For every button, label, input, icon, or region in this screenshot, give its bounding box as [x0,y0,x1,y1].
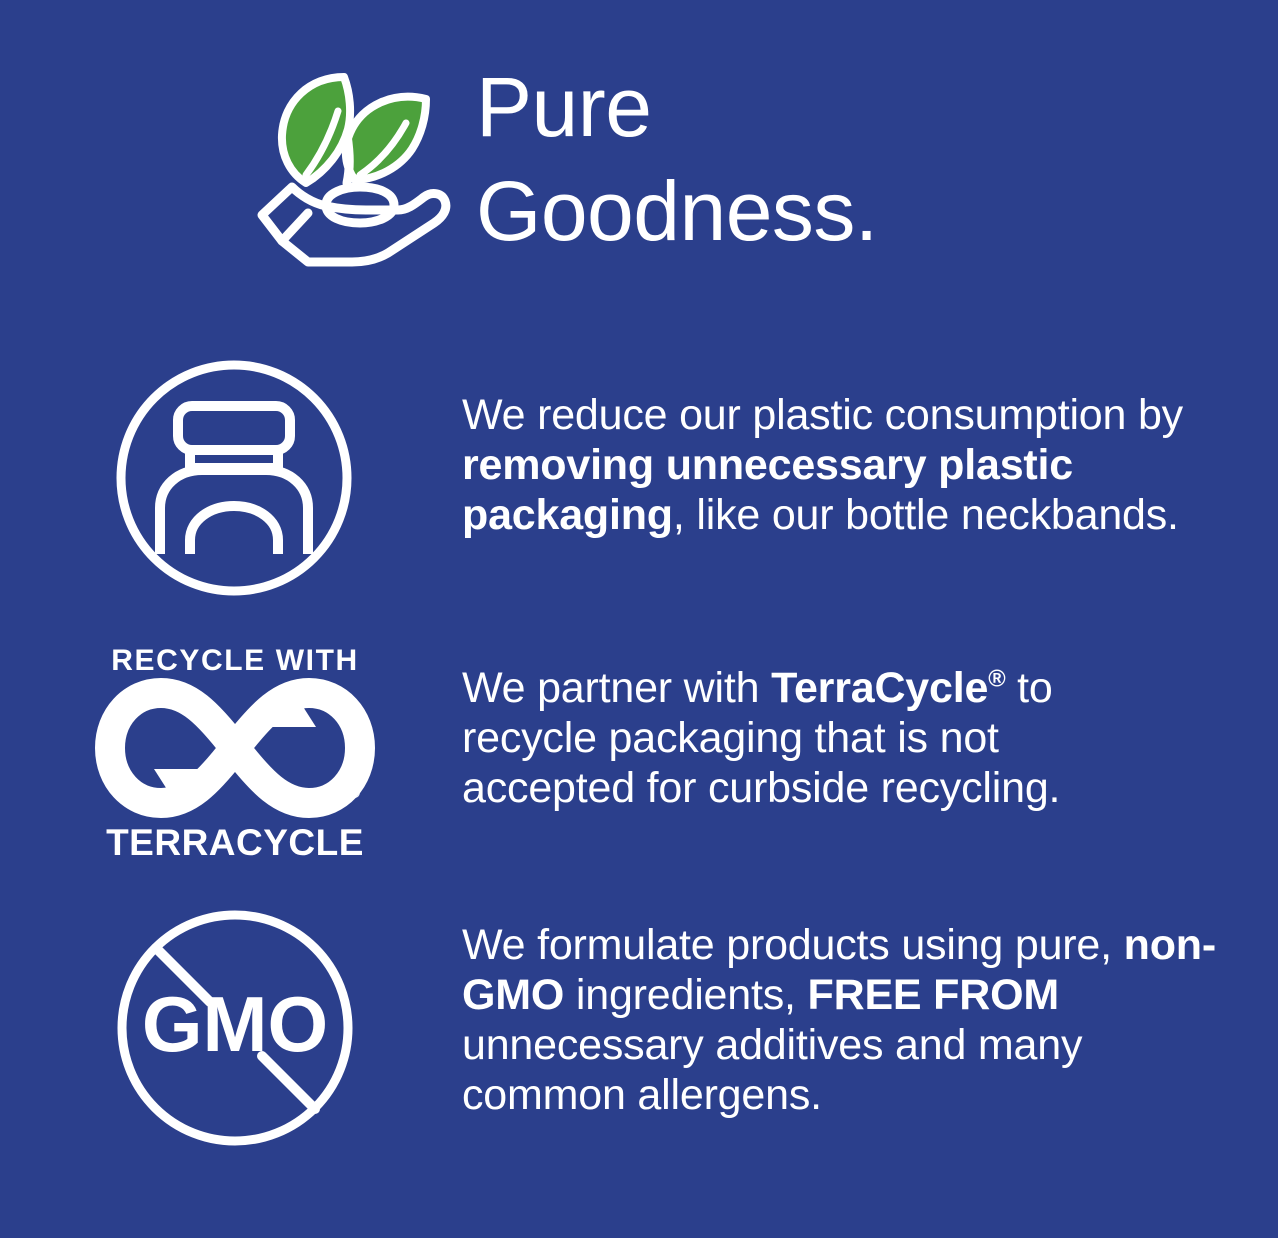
hand-holding-sprout-icon [248,63,458,268]
feature-row-terracycle: RECYCLE WITH ® TERRACYCLE We partner wi [0,645,1278,870]
feature-row-plastic: We reduce our plastic consumption by rem… [0,352,1278,602]
header: Pure Goodness. [248,55,1048,270]
feature-row-gmo: GMO We formulate products using pure, no… [0,900,1278,1155]
no-gmo-label: GMO [142,980,328,1068]
pure-goodness-infographic: Pure Goodness. We reduce our plastic con… [0,0,1278,1238]
no-gmo-icon: GMO [110,906,360,1151]
feature-text-terracycle: We partner with TerraCycle® to recycle p… [462,663,1122,813]
terracycle-logo-bottom-label: TERRACYCLE [104,823,366,863]
text-segment: unnecessary additives and many common al… [462,1021,1082,1119]
infinity-recycle-arrows-icon [104,683,366,813]
text-segment-bold: FREE FROM [808,971,1059,1019]
feature-text-gmo: We formulate products using pure, non-GM… [462,920,1232,1120]
text-segment: We formulate products using pure, [462,921,1124,969]
terracycle-logo: RECYCLE WITH ® TERRACYCLE [104,645,366,863]
registered-trademark-superscript: ® [988,667,1005,693]
text-segment: , like our bottle neckbands. [673,491,1179,539]
bottle-neckband-circle-icon [110,358,358,598]
text-segment: We partner with [462,664,771,712]
text-segment: ingredients, [564,971,807,1019]
registered-trademark-mark: ® [349,785,360,802]
terracycle-logo-top-label: RECYCLE WITH [104,645,366,677]
feature-text-plastic: We reduce our plastic consumption by rem… [462,390,1252,540]
page-title: Pure Goodness. [476,55,1036,263]
text-segment: We reduce our plastic consumption by [462,391,1183,439]
text-segment-bold: TerraCycle [771,664,988,712]
